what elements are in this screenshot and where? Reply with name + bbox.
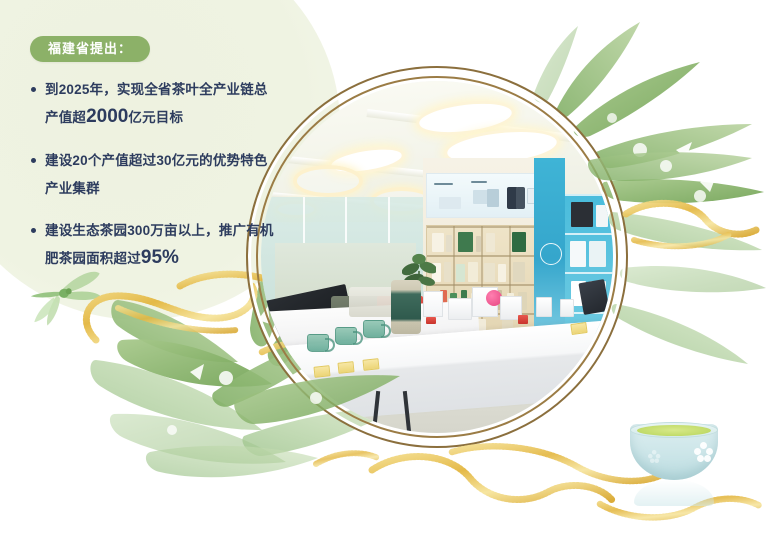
photo-green-mug <box>335 327 357 345</box>
bullet-dot-icon <box>31 158 36 163</box>
bullet-text-pre: 建设20个产值超过30亿元的优势特色产业集群 <box>45 153 268 196</box>
teacup-reflection <box>634 480 714 506</box>
list-item: 建设20个产值超过30亿元的优势特色产业集群 <box>30 150 280 204</box>
bullet-emphasis: 95% <box>141 247 179 268</box>
poster-canvas: 福建省提出： 到2025年，实现全省茶叶全产业链总产值超2000亿元目标 建设2… <box>0 0 768 556</box>
bullet-emphasis: 2000 <box>86 106 128 127</box>
teacup-illustration <box>622 420 726 516</box>
tea-liquid <box>637 425 711 436</box>
bullet-text-post: 亿元目标 <box>128 110 183 125</box>
showroom-photo <box>261 81 613 433</box>
bullet-dot-icon <box>31 228 36 233</box>
photo-green-mug <box>307 334 329 352</box>
photo-green-mug <box>363 320 385 338</box>
photo-glass-teapot <box>391 280 421 334</box>
photo-wall-banner <box>426 173 542 219</box>
photo-brand-emblem <box>540 243 562 265</box>
info-panel: 福建省提出： 到2025年，实现全省茶叶全产业链总产值超2000亿元目标 建设2… <box>30 36 280 274</box>
list-item: 建设生态茶园300万亩以上，推广有机肥茶园面积超过95% <box>30 220 280 274</box>
leaf-cluster-right <box>612 266 766 364</box>
list-item: 到2025年，实现全省茶叶全产业链总产值超2000亿元目标 <box>30 79 280 133</box>
headline-badge: 福建省提出： <box>30 36 150 62</box>
bullet-list: 到2025年，实现全省茶叶全产业链总产值超2000亿元目标 建设20个产值超过3… <box>30 79 280 274</box>
bullet-dot-icon <box>31 87 36 92</box>
